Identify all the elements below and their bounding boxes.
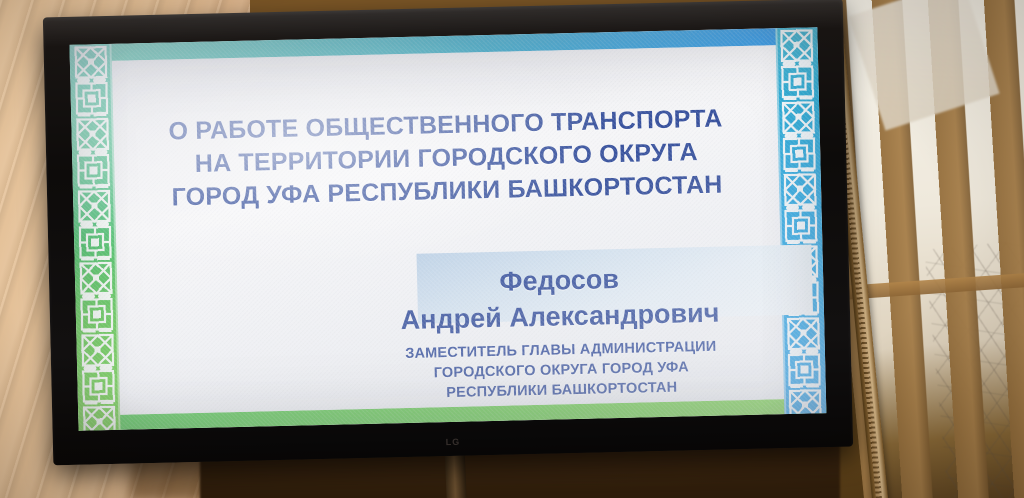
speaker-role: ЗАМЕСТИТЕЛЬ ГЛАВЫ АДМИНИСТРАЦИИ ГОРОДСКО…	[369, 336, 754, 405]
lg-logo: LG	[446, 437, 461, 447]
speaker-name: Федосов Андрей Александрович	[367, 258, 753, 339]
presentation-slide: О РАБОТЕ ОБЩЕСТВЕННОГО ТРАНСПОРТА НА ТЕР…	[69, 27, 826, 431]
television: LG О РАБОТЕ ОБЩЕСТВЕННОГО ТРАНСПОРТА	[43, 0, 853, 465]
slide-content: О РАБОТЕ ОБЩЕСТВЕННОГО ТРАНСПОРТА НА ТЕР…	[112, 45, 784, 415]
slide-title: О РАБОТЕ ОБЩЕСТВЕННОГО ТРАНСПОРТА НА ТЕР…	[113, 101, 779, 216]
tv-screen: О РАБОТЕ ОБЩЕСТВЕННОГО ТРАНСПОРТА НА ТЕР…	[69, 27, 826, 431]
screenshot-scene: LG О РАБОТЕ ОБЩЕСТВЕННОГО ТРАНСПОРТА	[0, 0, 1024, 498]
speaker-given-names: Андрей Александрович	[368, 294, 753, 339]
ornament-pattern-right	[778, 27, 823, 414]
